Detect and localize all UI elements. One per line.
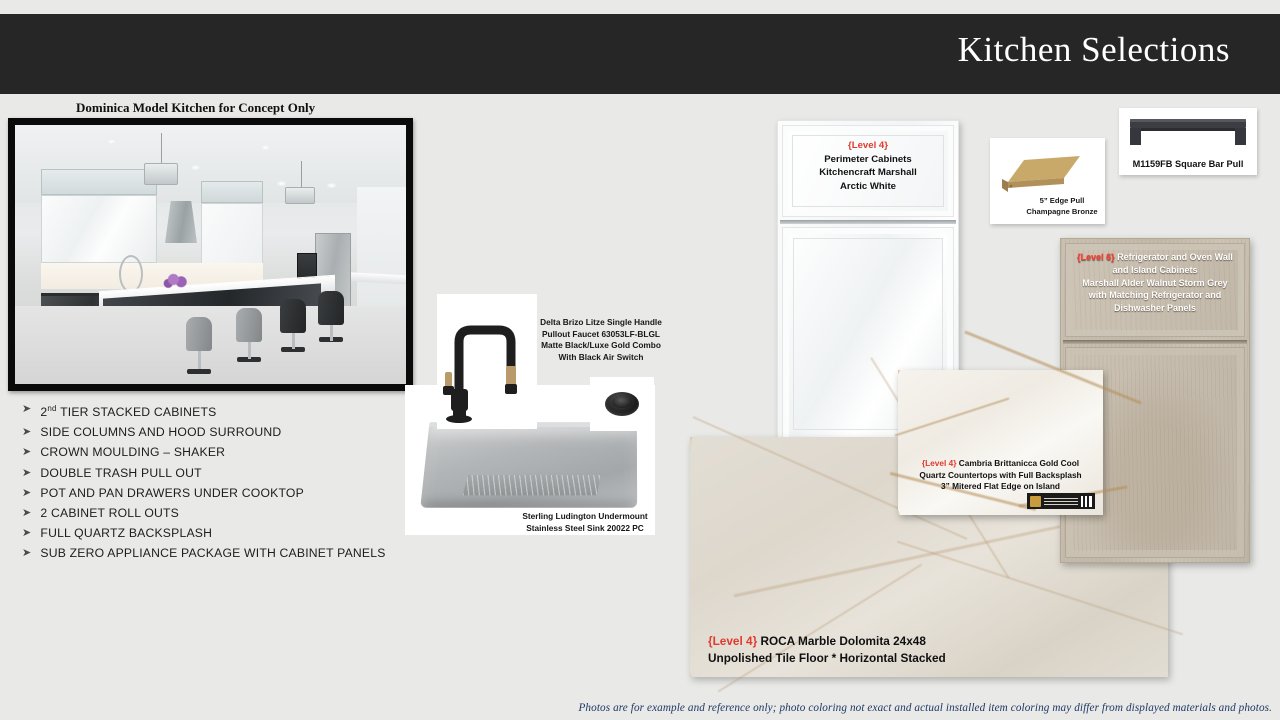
list-item: ➤ POT AND PAN DRAWERS UNDER COOKTOP xyxy=(22,485,412,501)
photo-downlight xyxy=(107,139,116,144)
kitchen-photo-frame xyxy=(8,118,413,391)
floor-tile-label: {Level 4} ROCA Marble Dolomita 24x48 Unp… xyxy=(708,633,1138,666)
air-switch-card xyxy=(590,377,654,431)
tile-vein xyxy=(718,564,923,693)
photo-upper-glass-cabinets-2 xyxy=(201,181,263,203)
sink-image xyxy=(420,422,637,508)
faucet-product-card xyxy=(437,294,537,429)
list-item-label: 2 CABINET ROLL OUTS xyxy=(40,505,179,521)
photo-range-hood xyxy=(165,201,197,243)
edge-pull-icon xyxy=(998,152,1080,196)
wood-reveal-gap xyxy=(1063,340,1247,344)
arrow-bullet-icon: ➤ xyxy=(22,485,31,501)
photo-stool xyxy=(318,291,344,325)
photo-pendant-rod xyxy=(301,161,302,189)
kitchen-photo-image xyxy=(15,125,406,384)
list-item-label: 2nd TIER STACKED CABINETS xyxy=(40,401,216,420)
faucet-caption: Delta Brizo Litze Single Handle Pullout … xyxy=(531,317,671,363)
photo-downlight xyxy=(277,181,286,186)
bar-pull-card: M1159FB Square Bar Pull xyxy=(1119,108,1257,175)
list-item: ➤ FULL QUARTZ BACKSPLASH xyxy=(22,525,412,541)
list-item-label: SIDE COLUMNS AND HOOD SURROUND xyxy=(40,424,281,440)
list-item: ➤ DOUBLE TRASH PULL OUT xyxy=(22,465,412,481)
photo-downlight xyxy=(191,165,200,170)
edge-pull-label: 5” Edge Pull Champagne Bronze xyxy=(1020,196,1104,217)
kitchen-photo-caption: Dominica Model Kitchen for Concept Only xyxy=(76,100,315,116)
photo-stool xyxy=(280,299,306,333)
island-cabinet-label: {Level 6} Refrigerator and Oven Wall and… xyxy=(1061,251,1249,315)
photo-stool xyxy=(236,308,262,342)
photo-downlight xyxy=(327,183,336,188)
photo-pendant-rod xyxy=(161,133,162,165)
photo-chandelier-2 xyxy=(285,187,315,204)
list-item-label: SUB ZERO APPLIANCE PACKAGE WITH CABINET … xyxy=(40,545,385,561)
level-badge: {Level 4} xyxy=(922,458,957,468)
qr-code-icon xyxy=(1081,496,1092,507)
perimeter-cabinet-label: {Level 4} Perimeter Cabinets Kitchencraf… xyxy=(778,139,958,193)
brand-logo-icon xyxy=(1030,496,1041,507)
air-switch-button-icon xyxy=(605,392,639,416)
bar-pull-label: M1159FB Square Bar Pull xyxy=(1119,159,1257,169)
list-item-label: POT AND PAN DRAWERS UNDER COOKTOP xyxy=(40,485,303,501)
level-badge: {Level 4} xyxy=(778,139,958,153)
arrow-bullet-icon: ➤ xyxy=(22,505,31,521)
list-item: ➤ CROWN MOULDING – SHAKER xyxy=(22,444,412,460)
cabinet-reveal-gap xyxy=(780,220,956,224)
photo-upper-white-cabinets-2 xyxy=(201,203,263,265)
quartz-vein xyxy=(895,398,1010,437)
list-item: ➤ SUB ZERO APPLIANCE PACKAGE WITH CABINE… xyxy=(22,545,412,561)
photo-stool xyxy=(186,317,212,351)
level-badge: {Level 4} xyxy=(708,634,757,648)
quartz-brand-badge xyxy=(1027,493,1095,509)
photo-downlight xyxy=(261,145,270,150)
feature-list: ➤ 2nd TIER STACKED CABINETS ➤ SIDE COLUM… xyxy=(22,401,412,566)
sink-bottom-grid xyxy=(463,475,600,495)
arrow-bullet-icon: ➤ xyxy=(22,545,31,561)
list-item-label: FULL QUARTZ BACKSPLASH xyxy=(40,525,212,541)
footer-disclaimer: Photos are for example and reference onl… xyxy=(0,702,1280,714)
badge-text-lines xyxy=(1044,497,1078,505)
photo-upper-glass-cabinets xyxy=(41,169,157,195)
edge-pull-card: 5” Edge Pull Champagne Bronze xyxy=(990,138,1105,224)
list-item: ➤ SIDE COLUMNS AND HOOD SURROUND xyxy=(22,424,412,440)
list-item: ➤ 2nd TIER STACKED CABINETS xyxy=(22,401,412,420)
photo-chandelier xyxy=(144,163,178,185)
faucet-icon xyxy=(437,294,537,429)
photo-decor-rings xyxy=(119,255,143,293)
quartz-label: {Level 4} Cambria Brittanicca Gold Cool … xyxy=(898,458,1103,493)
photo-upper-white-cabinets xyxy=(41,195,157,263)
list-item-label: CROWN MOULDING – SHAKER xyxy=(40,444,225,460)
level-badge: {Level 6} xyxy=(1077,252,1115,262)
photo-stool-base xyxy=(187,369,211,374)
arrow-bullet-icon: ➤ xyxy=(22,424,31,440)
list-item: ➤ 2 CABINET ROLL OUTS xyxy=(22,505,412,521)
arrow-bullet-icon: ➤ xyxy=(22,465,31,481)
photo-flower-arrangement xyxy=(163,273,189,289)
list-item-label: DOUBLE TRASH PULL OUT xyxy=(40,465,201,481)
arrow-bullet-icon: ➤ xyxy=(22,401,31,417)
arrow-bullet-icon: ➤ xyxy=(22,525,31,541)
page-title: Kitchen Selections xyxy=(958,30,1230,70)
quartz-countertop-sample: {Level 4} Cambria Brittanicca Gold Cool … xyxy=(898,370,1103,515)
sink-caption: Sterling Ludington Undermount Stainless … xyxy=(500,511,670,534)
photo-right-wall xyxy=(357,187,406,307)
arrow-bullet-icon: ➤ xyxy=(22,444,31,460)
square-bar-pull-icon xyxy=(1126,115,1250,149)
